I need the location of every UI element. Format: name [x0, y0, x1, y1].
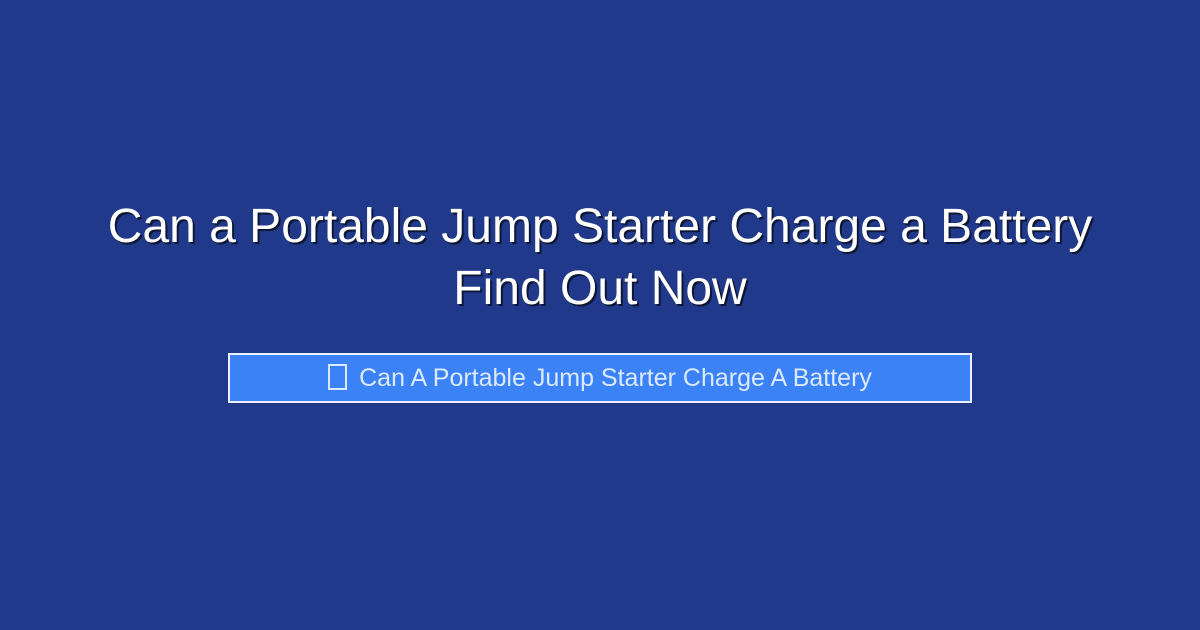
cta-button[interactable]: Can A Portable Jump Starter Charge A Bat…: [228, 353, 972, 403]
cta-container: Can A Portable Jump Starter Charge A Bat…: [0, 353, 1200, 403]
cta-button-label: Can A Portable Jump Starter Charge A Bat…: [359, 366, 872, 391]
social-card: Can a Portable Jump Starter Charge a Bat…: [0, 0, 1200, 630]
page-title: Can a Portable Jump Starter Charge a Bat…: [0, 196, 1200, 320]
missing-glyph-box-icon: [328, 364, 347, 390]
